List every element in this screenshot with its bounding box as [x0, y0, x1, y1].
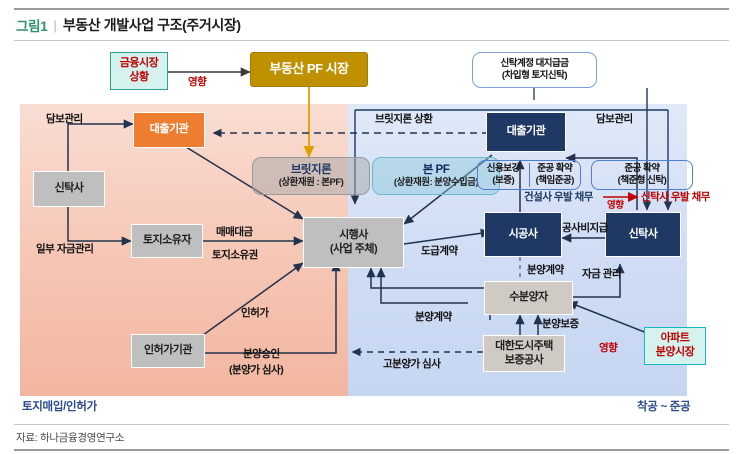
label-sales-contract-2: 분양계약	[415, 311, 452, 324]
zone-label-left: 토지매입/인허가	[22, 398, 97, 414]
apartment-market-line2: 분양시장	[656, 346, 694, 360]
node-bridge-loan[interactable]: 브릿지론 (상환재원 : 본PF)	[252, 157, 370, 195]
zone-label-right: 착공 ~ 준공	[637, 398, 690, 414]
main-pf-sub: (상환재원: 분양수입금)	[394, 177, 478, 189]
label-bridge-repay: 브릿지론 상환	[375, 113, 432, 126]
finance-market-line2: 상황	[129, 71, 148, 85]
footer-rule-top	[14, 424, 729, 425]
header-separator: |	[53, 18, 56, 33]
label-influence-apartment: 영향	[599, 342, 617, 355]
label-influence-contingent: 영향	[607, 200, 623, 211]
node-landowner[interactable]: 토지소유자	[131, 224, 203, 258]
header-rule-top	[14, 8, 729, 10]
finance-market-line1: 금융시장	[120, 57, 158, 71]
label-high-price-review: 고분양가 심사	[383, 358, 440, 371]
label-fund-mgmt: 자금 관리	[582, 268, 621, 281]
label-construction-contract: 도급계약	[421, 245, 458, 258]
label-sales-guarantee: 분양보증	[542, 318, 579, 331]
node-apartment-market[interactable]: 아파트 분양시장	[644, 327, 706, 365]
trust-account-line2: (차입형 토지신탁)	[502, 70, 567, 82]
node-buyer[interactable]: 수분양자	[484, 281, 573, 315]
node-finance-market[interactable]: 금융시장 상황	[110, 52, 168, 90]
label-sale-approval-2: (분양가 심사)	[229, 364, 283, 377]
capsule-completion-guarantee: 준공 확약 (책임준공)	[529, 163, 581, 186]
figure-number: 그림1	[16, 15, 47, 35]
label-collateral-mgmt-left: 담보관리	[46, 113, 83, 126]
comp-gtee-line1: 준공 확약	[537, 163, 572, 175]
source-note: 자료: 하나금융경영연구소	[16, 430, 124, 445]
page-title: 부동산 개발사업 구조(주거시장)	[63, 15, 241, 35]
label-sale-approval-1: 분양승인	[243, 348, 280, 361]
comp-gtee-line2: (책임준공)	[536, 175, 574, 187]
bridge-loan-sub: (상환재원 : 본PF)	[279, 177, 344, 189]
node-trust-account-advance[interactable]: 신탁계정 대지급금 (차입형 토지신탁)	[472, 52, 597, 88]
label-land-ownership: 토지소유권	[212, 249, 258, 262]
node-contractor[interactable]: 시공사	[484, 212, 562, 257]
header-rule-bottom	[14, 40, 729, 41]
label-trustee-contingent: 신탁사 우발 채무	[641, 191, 710, 204]
label-sales-contract: 분양계약	[527, 264, 564, 277]
footer-rule-bottom	[14, 449, 729, 451]
comp-trust-line2: (책준형 신탁)	[618, 175, 667, 187]
label-permit: 인허가	[241, 307, 268, 320]
header: 그림1 | 부동산 개발사업 구조(주거시장)	[16, 14, 241, 36]
label-collateral-mgmt-right: 담보관리	[596, 113, 633, 126]
node-pf-market[interactable]: 부동산 PF 시장	[250, 52, 368, 87]
hug-line1: 대한도시주택	[495, 340, 553, 354]
capsule-credit-and-completion[interactable]: 신용보강 (보증) 준공 확약 (책임준공)	[477, 160, 581, 190]
node-lender-left[interactable]: 대출기관	[133, 112, 205, 148]
node-permit-agency[interactable]: 인허가기관	[131, 334, 205, 368]
comp-trust-line1: 준공 확약	[624, 163, 659, 175]
node-trustee-right[interactable]: 신탁사	[605, 212, 681, 257]
main-pf-title: 본 PF	[423, 163, 449, 177]
node-trustee-left[interactable]: 신탁사	[33, 171, 105, 207]
developer-line1: 시행사	[339, 229, 368, 243]
apartment-market-line1: 아파트	[661, 332, 690, 346]
capsule-credit-enhancement: 신용보강 (보증)	[478, 163, 529, 186]
label-partial-fund-mgmt: 일부 자금관리	[36, 243, 93, 256]
label-sale-price: 매매대금	[216, 226, 253, 239]
diagram-canvas: 그림1 | 부동산 개발사업 구조(주거시장)	[0, 0, 743, 454]
hug-line2: 보증공사	[505, 354, 543, 368]
label-influence-pf: 영향	[188, 76, 206, 89]
node-developer[interactable]: 시행사 (사업 주체)	[303, 217, 404, 268]
label-construction-payment: 공사비지급	[562, 222, 608, 235]
capsule-completion-trust[interactable]: 준공 확약 (책준형 신탁)	[591, 160, 693, 190]
node-hug[interactable]: 대한도시주택 보증공사	[483, 335, 565, 372]
node-lender-right[interactable]: 대출기관	[486, 112, 566, 152]
credit-enh-line1: 신용보강	[487, 163, 520, 175]
credit-enh-line2: (보증)	[492, 175, 514, 187]
bridge-loan-title: 브릿지론	[291, 163, 331, 177]
trust-account-line1: 신탁계정 대지급금	[500, 58, 568, 70]
label-builder-contingent: 건설사 우발 채무	[524, 191, 593, 204]
developer-line2: (사업 주체)	[330, 243, 377, 257]
